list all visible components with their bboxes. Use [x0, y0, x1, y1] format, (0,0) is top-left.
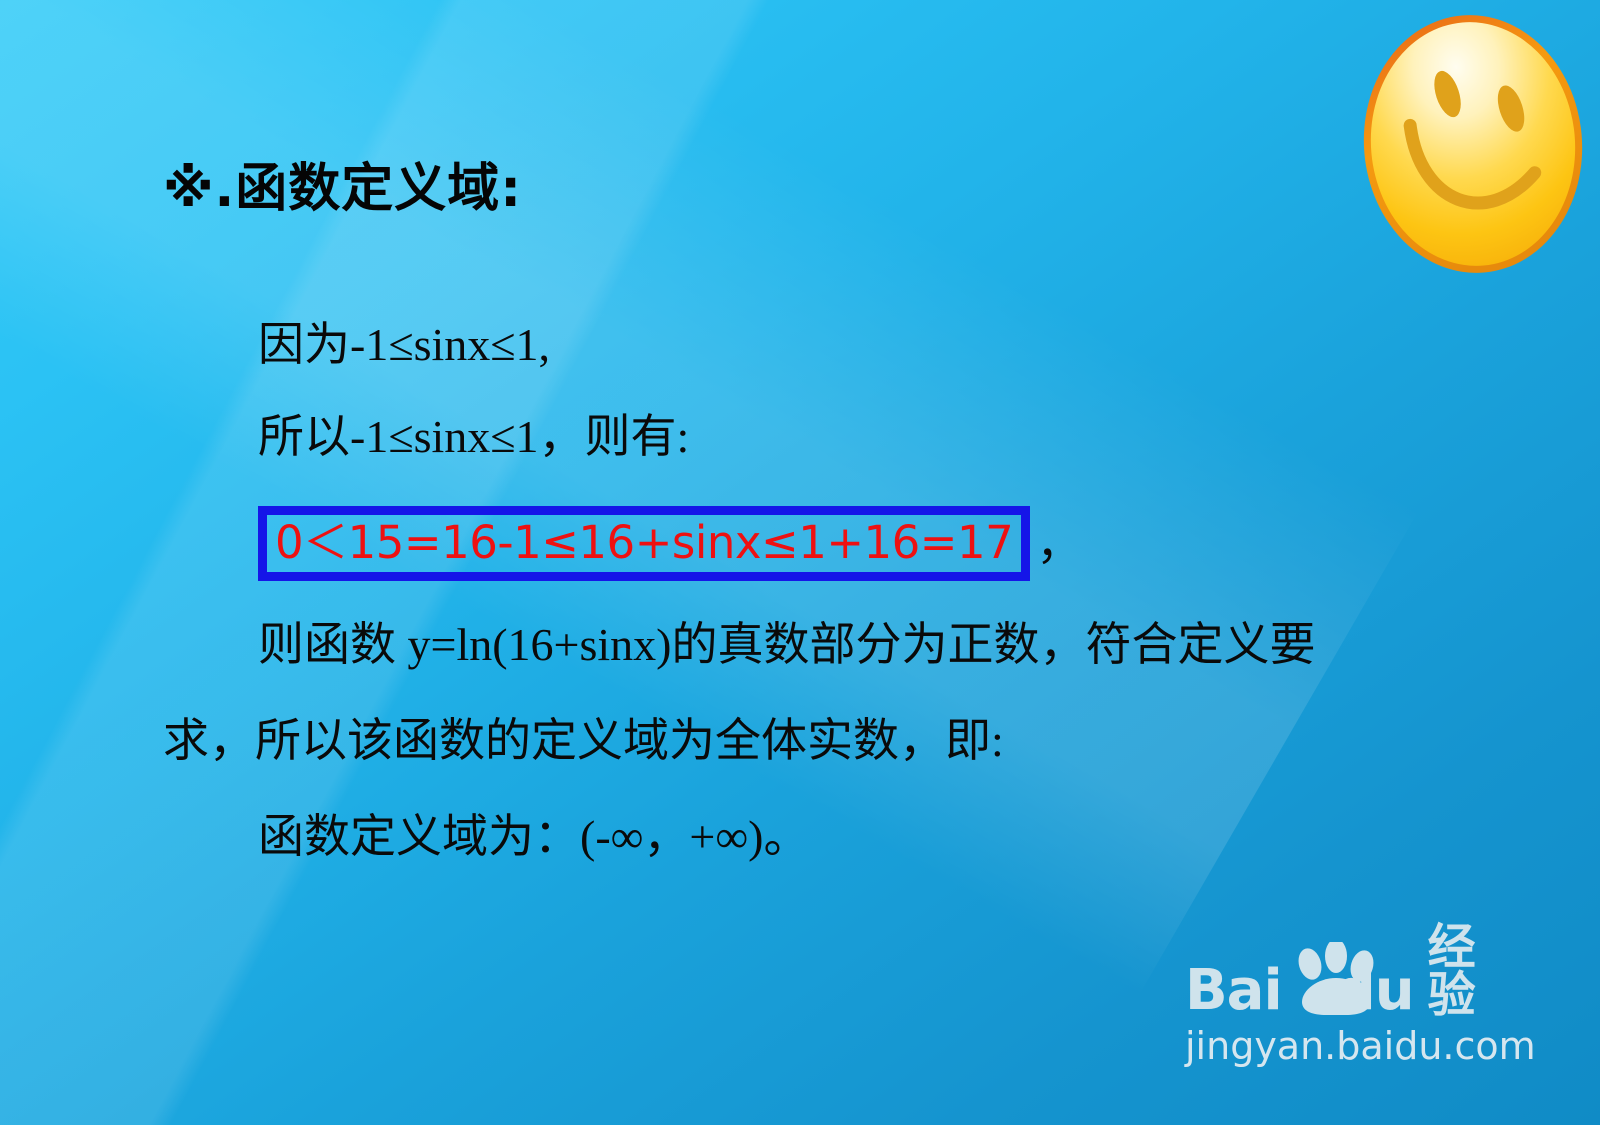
highlight-box: 0＜15=16-1≤16+sinx≤1+16=17	[258, 506, 1030, 581]
baidu-watermark-url: jingyan.baidu.com	[1185, 1027, 1485, 1065]
baidu-brand-cn: 经验	[1428, 923, 1485, 1019]
baidu-brand-bai: Bai	[1185, 963, 1282, 1019]
text-line-2: 所以-1≤sinx≤1，则有:	[258, 414, 1600, 506]
text-line-3-boxed: 0＜15=16-1≤16+sinx≤1+16=17 ，	[258, 506, 1600, 622]
text-line-1: 因为-1≤sinx≤1,	[258, 322, 1600, 414]
smiley-face-icon	[1357, 8, 1589, 280]
text-line-5: 求，所以该函数的定义域为全体实数，即:	[163, 718, 1600, 814]
slide-canvas: ※.函数定义域: 因为-1≤sinx≤1, 所以-1≤sinx≤1，则有: 0＜…	[0, 0, 1600, 1125]
baidu-watermark: Bai du 经验 jingyan.baidu.com	[1185, 955, 1485, 1065]
text-line-6: 函数定义域为：(-∞，+∞)。	[258, 814, 1600, 910]
boxed-formula-row: 0＜15=16-1≤16+sinx≤1+16=17 ，	[258, 506, 1082, 581]
baidu-logo: Bai du 经验	[1185, 955, 1485, 1019]
baidu-brand-du: du	[1336, 963, 1414, 1019]
boxed-formula-text: 0＜15=16-1≤16+sinx≤1+16=17	[275, 516, 1013, 569]
body-text-block: 因为-1≤sinx≤1, 所以-1≤sinx≤1，则有: 0＜15=16-1≤1…	[0, 322, 1600, 910]
text-line-4: 则函数 y=ln(16+sinx)的真数部分为正数，符合定义要	[258, 622, 1600, 718]
page-title: ※.函数定义域:	[163, 163, 522, 215]
boxed-formula-trailing-comma: ，	[1030, 521, 1082, 567]
